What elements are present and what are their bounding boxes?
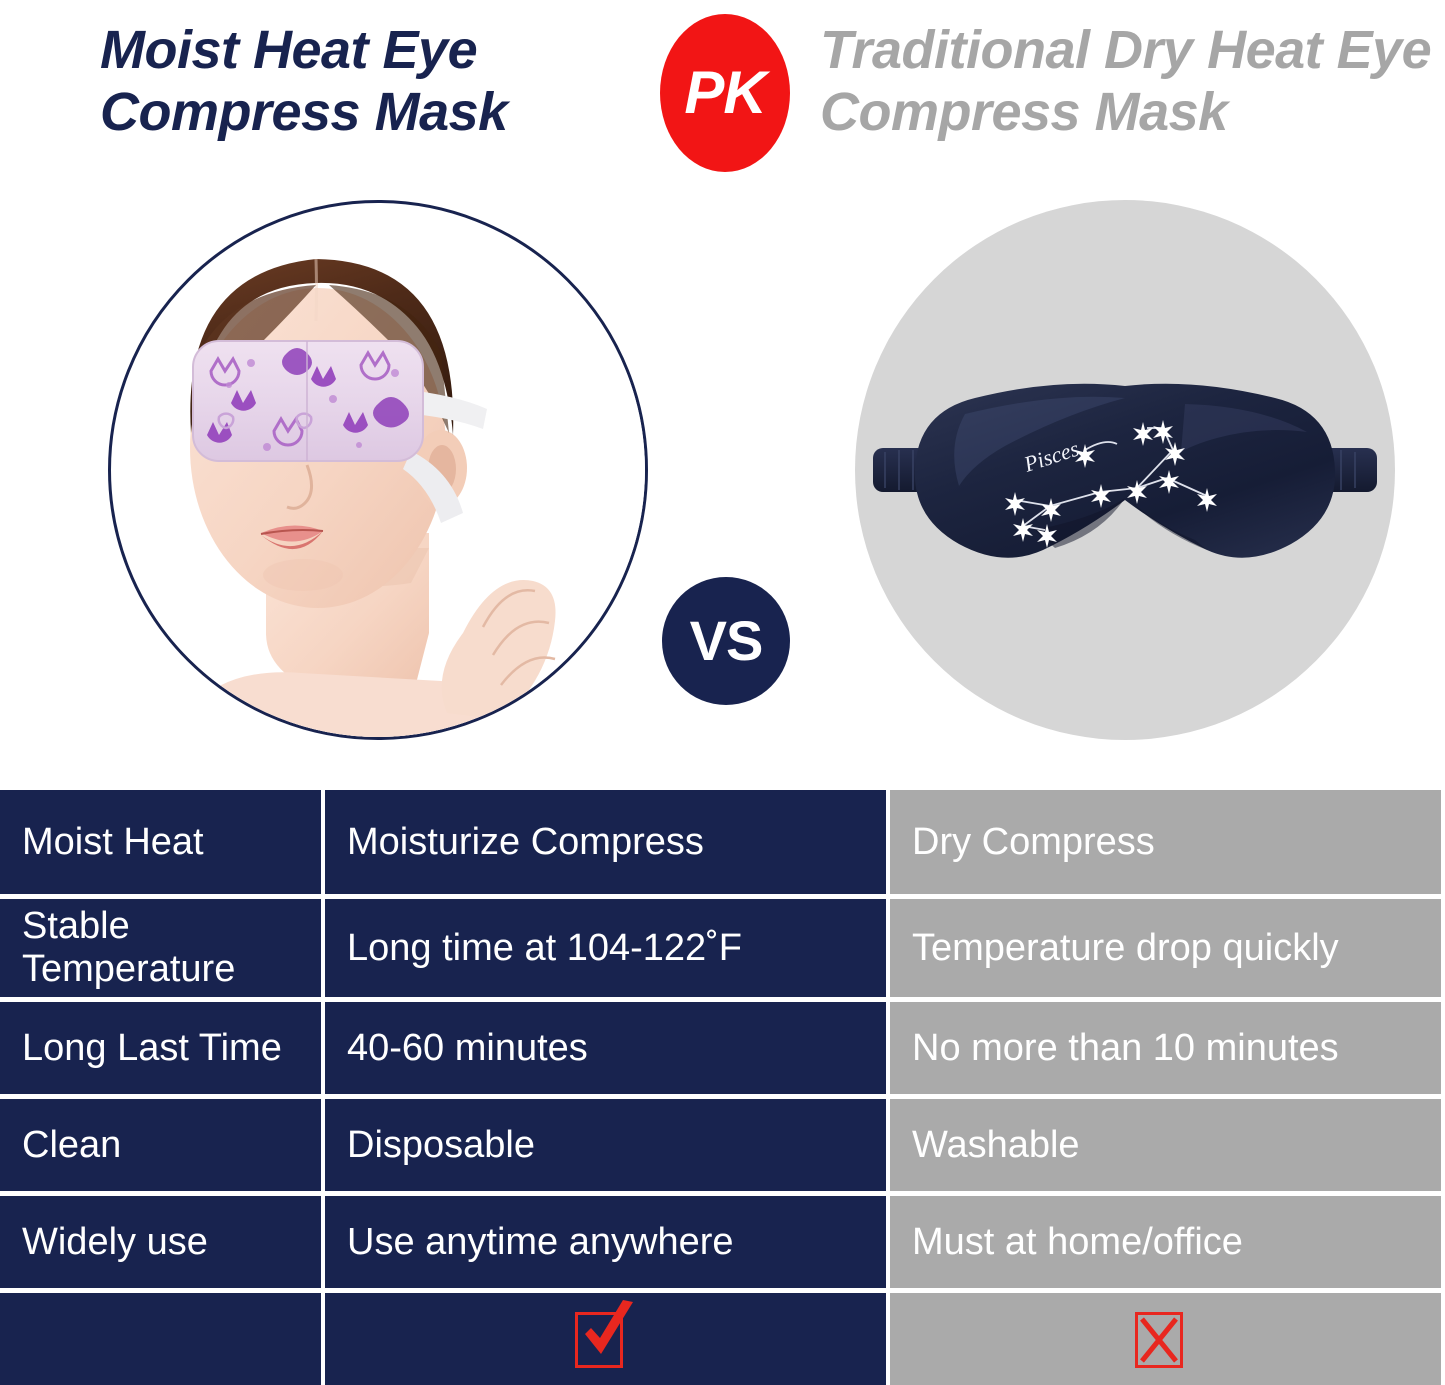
dry-heat-value: Washable <box>890 1099 1441 1191</box>
feature-label: Clean <box>0 1099 325 1191</box>
feature-label: Moist Heat <box>0 790 325 894</box>
verdict-dry-heat <box>890 1293 1441 1385</box>
verdict-moist-heat <box>325 1293 890 1385</box>
left-product-title: Moist Heat Eye Compress Mask <box>100 20 700 143</box>
moist-heat-mask-model-illustration <box>111 203 648 740</box>
vs-badge: VS <box>662 577 790 705</box>
feature-label: Widely use <box>0 1196 325 1288</box>
table-row: Widely use Use anytime anywhere Must at … <box>0 1196 1445 1293</box>
right-product-photo-circle: Pisces <box>855 200 1395 740</box>
moist-heat-value: 40-60 minutes <box>325 1002 890 1094</box>
dry-heat-value: Must at home/office <box>890 1196 1441 1288</box>
vs-label: VS <box>690 613 763 669</box>
feature-label: Long Last Time <box>0 1002 325 1094</box>
table-row: Long Last Time 40-60 minutes No more tha… <box>0 1002 1445 1099</box>
moist-heat-value: Use anytime anywhere <box>325 1196 890 1288</box>
pk-badge: PK <box>660 14 790 172</box>
table-row: Stable Temperature Long time at 104-122˚… <box>0 899 1445 1002</box>
right-product-title: Traditional Dry Heat Eye Compress Mask <box>820 20 1440 143</box>
table-row: Clean Disposable Washable <box>0 1099 1445 1196</box>
moist-heat-value: Long time at 104-122˚F <box>325 899 890 997</box>
dry-heat-value: Dry Compress <box>890 790 1441 894</box>
table-row: Moist Heat Moisturize Compress Dry Compr… <box>0 790 1445 899</box>
dry-heat-value: Temperature drop quickly <box>890 899 1441 997</box>
header: Moist Heat Eye Compress Mask PK Traditio… <box>0 0 1445 185</box>
table-row-verdict <box>0 1293 1445 1385</box>
pk-badge-label: PK <box>684 63 765 123</box>
moist-heat-value: Disposable <box>325 1099 890 1191</box>
moist-heat-value: Moisturize Compress <box>325 790 890 894</box>
verdict-empty-cell <box>0 1293 325 1385</box>
dry-heat-silk-mask-illustration: Pisces <box>855 200 1395 740</box>
left-product-photo-circle <box>108 200 648 740</box>
hero-comparison-images: VS <box>0 185 1445 775</box>
comparison-table: Moist Heat Moisturize Compress Dry Compr… <box>0 790 1445 1375</box>
check-mark-icon <box>575 1306 637 1372</box>
dry-heat-value: No more than 10 minutes <box>890 1002 1441 1094</box>
cross-mark-icon <box>1135 1306 1197 1372</box>
feature-label: Stable Temperature <box>0 899 325 997</box>
